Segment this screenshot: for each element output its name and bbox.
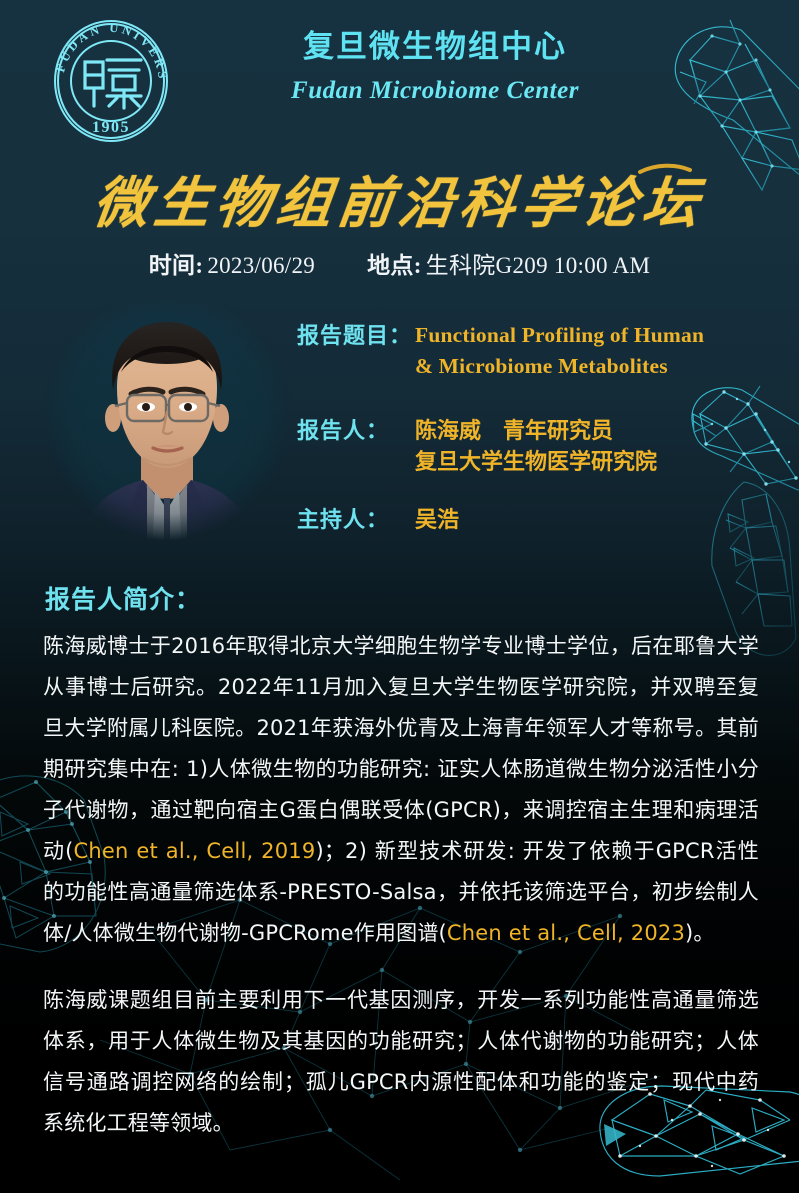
host-label: 主持人： — [297, 504, 415, 535]
speaker-name: 陈海威 青年研究员 — [415, 415, 657, 446]
time-label: 时间: — [149, 246, 204, 280]
center-name-cn: 复旦微生物组中心 — [210, 28, 660, 65]
talk-title-label: 报告题目： — [297, 320, 415, 381]
fudan-university-seal-icon: FUDAN UNIVERSITY 1905 — [45, 18, 177, 144]
bio-p1-part-a: 陈海威博士于2016年取得北京大学细胞生物学专业博士学位，后在耶鲁大学从事博士后… — [43, 634, 759, 863]
place-value: 生科院G209 10:00 AM — [426, 246, 651, 280]
poster-header: FUDAN UNIVERSITY 1905 复旦微生物组中心 Fudan Mic… — [0, 0, 799, 150]
citation-2: Chen et al., Cell, 2023 — [447, 921, 685, 945]
bio-body: 陈海威博士于2016年取得北京大学细胞生物学专业博士学位，后在耶鲁大学从事博士后… — [43, 626, 759, 1170]
talk-title-row: 报告题目： Functional Profiling of Human & Mi… — [297, 320, 767, 381]
host-row: 主持人： 吴浩 — [297, 504, 767, 535]
center-name-block: 复旦微生物组中心 Fudan Microbiome Center — [210, 28, 660, 105]
bio-paragraph-2: 陈海威课题组目前主要利用下一代基因测序，开发一系列功能性高通量筛选体系，用于人体… — [43, 980, 759, 1144]
bio-paragraph-1: 陈海威博士于2016年取得北京大学细胞生物学专业博士学位，后在耶鲁大学从事博士后… — [43, 626, 759, 954]
bio-p1-part-c: )。 — [685, 921, 715, 945]
time-value: 2023/06/29 — [207, 253, 315, 279]
speaker-affiliation: 复旦大学生物医学研究院 — [415, 446, 657, 477]
speaker-portrait — [43, 302, 291, 560]
speaker-label: 报告人： — [297, 415, 415, 477]
speaker-value: 陈海威 青年研究员 复旦大学生物医学研究院 — [415, 415, 657, 477]
svg-text:FUDAN UNIVERSITY: FUDAN UNIVERSITY — [45, 18, 170, 82]
event-meta-line: 时间: 2023/06/29 地点: 生科院G209 10:00 AM — [0, 246, 799, 280]
bio-heading: 报告人简介： — [45, 580, 201, 616]
svg-text:1905: 1905 — [92, 119, 130, 136]
center-name-en: Fudan Microbiome Center — [210, 77, 660, 105]
citation-1: Chen et al., Cell, 2019 — [74, 839, 316, 863]
host-name: 吴浩 — [415, 504, 459, 535]
place-label: 地点: — [367, 246, 422, 280]
poster-root: FUDAN UNIVERSITY 1905 复旦微生物组中心 Fudan Mic… — [0, 0, 799, 1193]
talk-title-line1: Functional Profiling of Human — [415, 320, 704, 351]
forum-title: 微生物组前沿科学论坛 — [0, 158, 799, 238]
speaker-row: 报告人： 陈海威 青年研究员 复旦大学生物医学研究院 — [297, 415, 767, 477]
talk-title-value: Functional Profiling of Human & Microbio… — [415, 320, 704, 381]
speaker-info-block: 报告题目： Functional Profiling of Human & Mi… — [297, 320, 767, 540]
talk-title-line2: & Microbiome Metabolites — [415, 351, 704, 382]
